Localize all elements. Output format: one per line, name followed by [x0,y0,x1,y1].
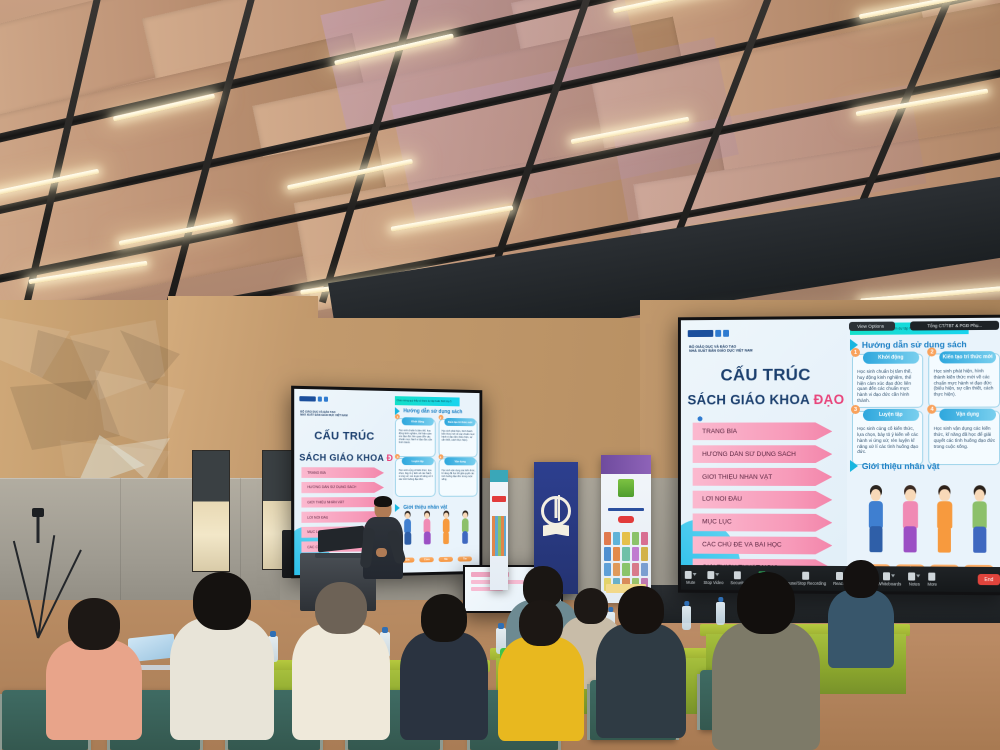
slide-arrow-label: TRANG BÌA [692,428,737,435]
character-name-pill: Cốm [420,558,434,563]
slide-arrow-label: GIỚI THIỆU NHÂN VẬT [692,473,772,480]
card-header: Khởi động [402,417,434,425]
character-head [871,489,881,502]
character-name-pill: Tin [458,557,472,562]
card-body-text: Học sinh củng cố kiến thức, lựa chọn, bà… [857,426,918,456]
card-header: Vận dụng [939,409,996,421]
attendee-2 [170,572,274,750]
card-body-text: Học sinh phát hiện, hình thành kiến thức… [934,368,996,398]
notes-icon [908,572,915,580]
screen-right-main: BỘ GIÁO DỤC VÀ ĐÀO TẠO NHÀ XUẤT BẢN GIÁO… [678,315,1000,596]
character-body [462,519,469,532]
chair-frame [587,684,590,740]
zoom-toolbar-label: Mute [686,579,695,584]
attendee-5 [498,600,584,750]
character-legs [424,532,430,545]
play-triangle-icon [850,460,858,472]
attendee-head [421,594,467,642]
slide-character [440,511,452,549]
card-body-text: Học sinh chuẩn bị tâm thế, huy động kinh… [399,429,433,445]
attendee-torso [596,624,686,738]
view-options-button[interactable]: View Options [849,321,895,330]
card-body-text: Học sinh vận dụng các kiến thức, kĩ năng… [442,469,476,481]
attendee-head [843,560,879,598]
open-book-icon [543,523,569,536]
attendee-torso [170,618,274,740]
card-header: Luyện tập [863,409,919,421]
card-body-text: Học sinh phát hiện, hình thành kiến thức… [442,429,476,441]
chevron-down-icon[interactable] [916,575,920,578]
slide-character [932,485,958,560]
publisher-line-2: NHÀ XUẤT BẢN GIÁO DỤC VIỆT NAM [300,414,347,418]
attendee-head [737,572,795,634]
zoom-toolbar-more[interactable]: More [927,572,937,586]
attendee-1 [46,598,142,750]
card-number-badge: 2 [438,415,443,420]
window [192,450,230,572]
presenter-hand [376,548,387,557]
character-legs [443,532,449,545]
attendee-head [315,582,367,634]
slide-arrow-label: TRANG BÌA [301,471,326,475]
slide-arrow-item: CÁC CHỦ ĐỀ VÀ BÀI HỌC [692,536,832,555]
character-body [424,519,431,533]
attendee-3 [292,582,390,750]
standee-header [601,455,651,474]
zoom-toolbar-label: More [927,581,937,586]
character-legs [870,526,883,551]
character-legs [904,527,917,552]
card-header: Khởi động [863,352,919,364]
character-body [443,519,450,533]
attendee-9 [828,560,894,676]
slide-arrow-item: HƯỚNG DẪN SỬ DỤNG SÁCH [301,482,384,493]
character-body [972,502,986,529]
slide-arrow-item: TRANG BÌA [301,467,384,478]
slide-arrow-label: CÁC CHỦ ĐỀ VÀ BÀI HỌC [692,541,781,548]
slide-character [863,485,889,559]
chair-frame [0,694,2,750]
attendee-torso [712,622,820,750]
zoom-toolbar-notes[interactable]: Notes [908,572,920,586]
textbook-standee [601,455,651,603]
standee-badge [618,516,634,523]
section-2-title: Giới thiệu nhân vật [862,461,940,471]
method-card: 2Kiến tạo tri thức mớiHọc sinh phát hiện… [438,419,478,457]
method-card: 4Vận dụngHọc sinh vận dụng các kiến thức… [929,411,1000,465]
microphone-icon [685,570,692,578]
attendee-torso [292,624,390,740]
character-legs [973,527,986,552]
ellipsis-icon [929,572,936,580]
standee-subtitle [608,508,644,511]
character-head [905,489,915,502]
method-card: 2Kiến tạo tri thức mớiHọc sinh phát hiện… [929,353,1000,407]
card-header: Luyện tập [402,457,434,465]
attendee-head [68,598,120,650]
slide-arrow-item: LỜI NÓI ĐẦU [692,491,832,509]
attendee-head [193,572,251,630]
presentation-slide: BỘ GIÁO DỤC VÀ ĐÀO TẠO NHÀ XUẤT BẢN GIÁO… [681,318,1000,593]
attendee-4 [400,594,488,750]
publisher-line-2: NHÀ XUẤT BẢN GIÁO DỤC VIỆT NAM [689,349,752,353]
card-header: Kiến tạo tri thức mới [445,418,476,426]
participant-name-label: Tổng CT/TBT & PGĐ Phụ... [910,320,999,330]
attendee-7 [712,572,820,750]
slide-arrow-item: TRANG BÌA [692,422,832,440]
attendee-torso [498,637,584,741]
slide-character [897,485,923,559]
attendee-head [618,586,664,634]
publisher-logo-icon [299,396,315,401]
character-legs [938,527,951,552]
card-header: Vận dụng [445,458,476,466]
method-card: 1Khởi độngHọc sinh chuẩn bị tâm thế, huy… [852,354,923,408]
bullet-dot [697,416,702,421]
slide-arrow-item: HƯỚNG DẪN SỬ DỤNG SÁCH [692,445,832,463]
slide-arrow-item: MỤC LỤC [692,513,832,531]
card-number-badge: 1 [395,414,400,419]
presenter [360,498,406,594]
slide-character [966,485,992,560]
card-number-badge: 3 [395,454,400,459]
slide-arrow-label: HƯỚNG DẪN SỬ DỤNG SÁCH [692,451,795,458]
character-head [940,489,950,502]
slide-arrow-label: GIỚI THIỆU NHÂN VẬT [301,500,344,504]
card-header: Kiến tạo tri thức mới [939,351,996,363]
method-card: 4Vận dụngHọc sinh vận dụng các kiến thức… [438,459,478,497]
character-body [903,501,917,528]
slide-arrow-label: LỜI NÓI ĐẦU [692,496,742,503]
character-body [869,501,883,528]
zoom-chat-notice: Chào mừng quý thầy cô tham dự tập huấn S… [394,396,459,406]
slide-arrow-label: MỤC LỤC [692,519,731,526]
character-name-pill: Na [439,557,453,562]
slide-arrow-label: LỜI NÓI ĐẦU [301,515,328,519]
end-meeting-button[interactable]: End [978,574,1000,585]
method-card: 1Khởi độngHọc sinh chuẩn bị tâm thế, huy… [395,418,436,457]
attendee-head [519,600,563,646]
slide-character [421,511,434,549]
card-body-text: Học sinh vận dụng các kiến thức, kĩ năng… [934,426,996,450]
slide-arrow-item: GIỚI THIỆU NHÂN VẬT [692,468,832,486]
slide-character [459,511,471,548]
card-number-badge: 1 [851,348,860,357]
character-legs [462,531,468,544]
laptop-screen [318,526,364,552]
character-head [974,489,985,502]
standee-leaf-logo-icon [618,479,634,497]
chevron-down-icon[interactable] [693,573,697,576]
card-number-badge: 4 [438,455,443,460]
attendee-torso [46,640,142,740]
podium-laptop [318,528,364,558]
slide-title-line-1: CẤU TRÚC [314,430,374,443]
character-body [938,501,952,528]
zoom-toolbar-label: Notes [909,581,920,586]
method-card: 3Luyện tậpHọc sinh củng cố kiến thức, lự… [852,411,923,465]
card-body-text: Học sinh củng cố kiến thức, lựa chọn, bà… [399,469,433,481]
presenter-hair [374,496,392,507]
card-number-badge: 4 [928,405,937,414]
slide-arrow-label: HƯỚNG DẪN SỬ DỤNG SÁCH [301,485,356,489]
publisher-logo-icon [687,329,713,336]
slide-title-line-1: CẤU TRÚC [721,365,811,385]
conference-room-photo: BỘ GIÁO DỤC VÀ ĐÀO TẠO NHÀ XUẤT BẢN GIÁO… [0,0,1000,750]
card-number-badge: 2 [928,348,937,357]
camera-icon [32,508,44,517]
attendee-6 [596,586,686,748]
card-body-text: Học sinh chuẩn bị tâm thế, huy động kinh… [857,368,918,404]
attendee-torso [828,590,894,668]
zoom-toolbar-mute[interactable]: Mute [685,570,697,584]
card-number-badge: 3 [851,405,860,414]
slide-title-line-2: SÁCH GIÁO KHOA [687,393,813,408]
slide-title-line-2: SÁCH GIÁO KHOA [299,452,386,463]
view-options-label: View Options [857,323,884,328]
window-blind [193,451,229,501]
method-card: 3Luyện tậpHọc sinh củng cố kiến thức, lự… [395,458,436,496]
chair-frame [697,674,700,730]
attendee-torso [400,632,488,740]
section-1-title: Hướng dẫn sử dụng sách [862,339,967,350]
section-1-title: Hướng dẫn sử dụng sách [403,409,462,416]
